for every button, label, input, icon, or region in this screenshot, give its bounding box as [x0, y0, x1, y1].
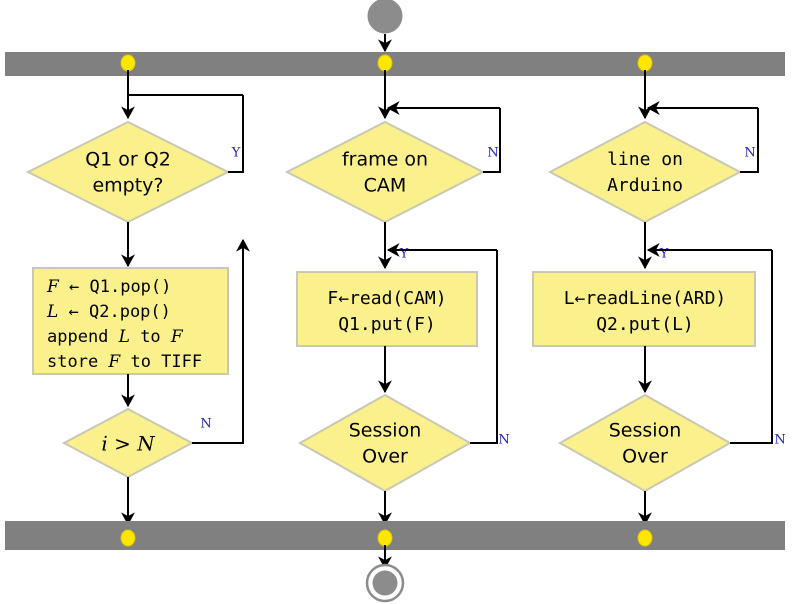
mid-decision-top-line-1: frame on [342, 149, 428, 171]
left-decision-top-shape[interactable] [28, 122, 228, 222]
left-top-branch-label: Y [231, 146, 241, 161]
right-decision-top-line-1: line on [607, 149, 683, 170]
right-top-branch-label: N [744, 146, 755, 161]
right-process-line-1: L←readLine(ARD) [564, 288, 727, 309]
join-dot-right [638, 530, 652, 546]
join-dot-left [121, 530, 135, 546]
mid-decision-bottom-shape[interactable] [300, 395, 470, 491]
edge-right-top-no [740, 108, 758, 172]
right-bottom-branch-label: N [774, 433, 785, 448]
fork-dot-left [121, 55, 135, 71]
fork-dot-middle [378, 55, 392, 71]
end-node-core [373, 571, 398, 596]
mid-decision-bottom-line-2: Over [362, 446, 408, 468]
left-process-line-4: store F to TIFF [47, 352, 202, 372]
flowchart-svg: Q1 or Q2 empty? Y F ← Q1.pop() L ← Q2.po… [0, 0, 795, 604]
right-decision-bottom-shape[interactable] [560, 395, 730, 491]
mid-decision-top-shape[interactable] [287, 122, 483, 222]
left-process-line-1: F ← Q1.pop() [46, 277, 171, 297]
mid-decision-top-line-2: CAM [364, 175, 407, 197]
mid-process-line-1: F←read(CAM) [327, 288, 446, 309]
mid-process-line-2: Q1.put(F) [338, 314, 436, 335]
left-decision-bottom-line-1: i > N [101, 432, 156, 456]
right-process-line-2: Q2.put(L) [596, 314, 694, 335]
left-bottom-branch-label: N [200, 417, 211, 432]
edge-mid-top-no [483, 108, 500, 172]
right-decision-top-shape[interactable] [550, 122, 740, 222]
flowchart-canvas: Q1 or Q2 empty? Y F ← Q1.pop() L ← Q2.po… [0, 0, 795, 604]
fork-dot-right [638, 55, 652, 71]
right-decision-bottom-line-2: Over [622, 446, 668, 468]
left-process-line-2: L ← Q2.pop() [46, 302, 171, 322]
right-decision-bottom-line-1: Session [609, 420, 682, 442]
mid-top-branch-label: N [487, 146, 498, 161]
left-decision-top-line-1: Q1 or Q2 [85, 149, 171, 171]
left-process-line-3: append L to F [47, 327, 184, 347]
mid-decision-bottom-line-1: Session [349, 420, 422, 442]
right-top-yes-label: Y [659, 247, 669, 262]
start-node [368, 0, 402, 33]
mid-top-yes-label: Y [399, 247, 409, 262]
right-decision-top-line-2: Arduino [607, 175, 683, 196]
join-dot-middle [378, 530, 392, 546]
mid-bottom-branch-label: N [498, 433, 509, 448]
left-decision-top-line-2: empty? [92, 175, 163, 197]
